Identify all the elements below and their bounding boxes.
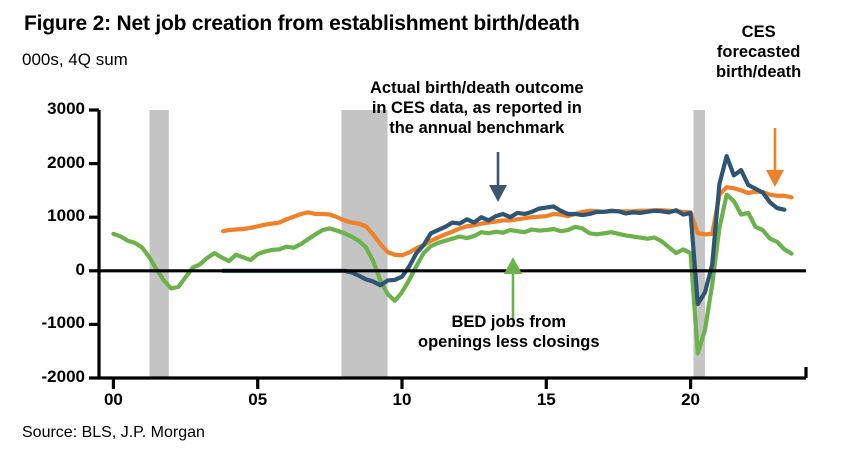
y-tick-label: 3000: [11, 99, 85, 119]
y-tick-label: 0: [11, 260, 85, 280]
annotation-green-line1: BED jobs from: [418, 312, 600, 332]
y-tick-label: -2000: [11, 367, 85, 387]
series-line-1: [223, 187, 791, 255]
annotation-actual-birth-death: Actual birth/death outcome in CES data, …: [370, 78, 584, 138]
x-tick-label: 05: [235, 390, 281, 410]
navy-arrow-icon-head: [489, 185, 507, 202]
orange-arrow-icon-head: [766, 170, 784, 187]
annotation-navy-line1: Actual birth/death outcome: [370, 78, 584, 98]
annotation-ces-forecast: CES forecasted birth/death: [716, 22, 801, 82]
annotation-green-line2: openings less closings: [418, 332, 600, 352]
annotation-navy-line2: in CES data, as reported in: [370, 98, 584, 118]
x-tick-label: 20: [668, 390, 714, 410]
figure-root: Figure 2: Net job creation from establis…: [0, 0, 852, 459]
annotation-arrows-group: [489, 128, 784, 320]
annotation-bed-jobs: BED jobs from openings less closings: [418, 312, 600, 352]
x-tick-label: 10: [379, 390, 425, 410]
annotation-orange-line3: birth/death: [716, 62, 801, 82]
recession-band: [150, 110, 169, 378]
y-tick-label: 2000: [11, 153, 85, 173]
x-tick-label: 15: [523, 390, 569, 410]
annotation-orange-line1: CES: [716, 22, 801, 42]
annotation-navy-line3: the annual benchmark: [370, 118, 584, 138]
annotation-orange-line2: forecasted: [716, 42, 801, 62]
green-arrow-icon-head: [504, 257, 522, 274]
y-tick-label: -1000: [11, 313, 85, 333]
x-tick-label: 00: [90, 390, 136, 410]
y-tick-label: 1000: [11, 206, 85, 226]
